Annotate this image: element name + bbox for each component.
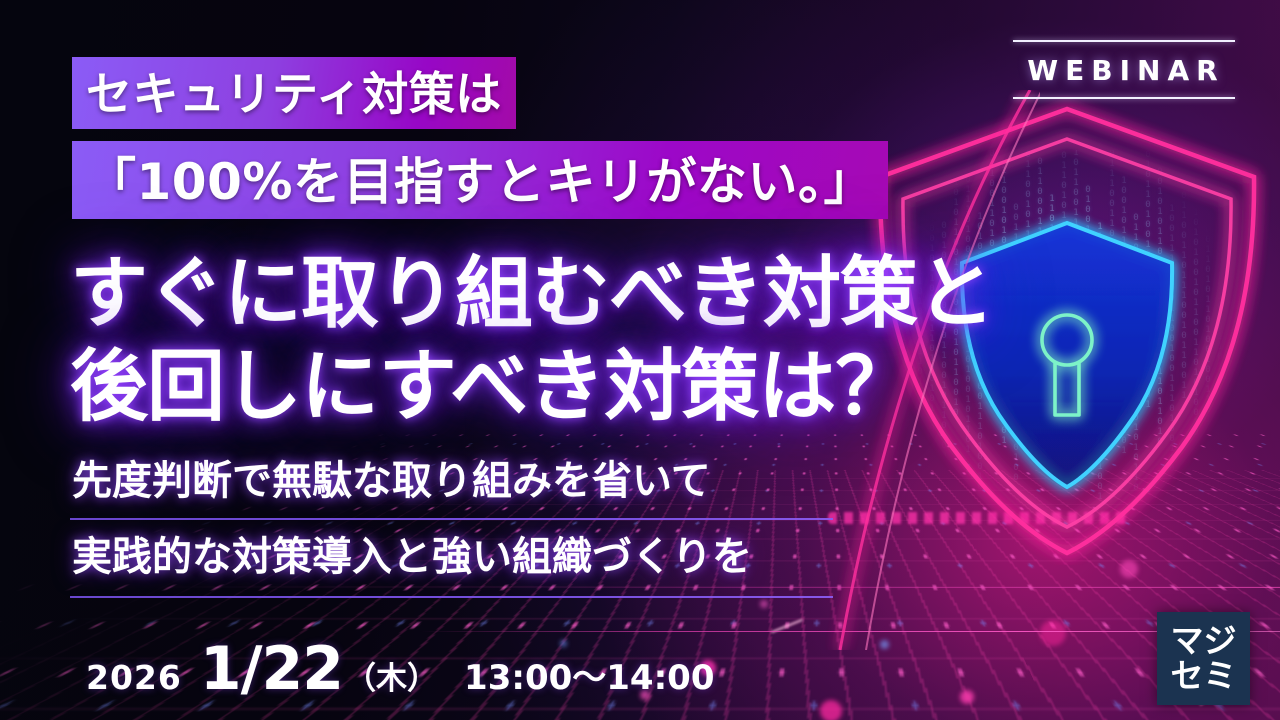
logo-line1: マジ xyxy=(1171,624,1237,659)
subtitle-line1: 先度判断で無駄な取り組みを省いて xyxy=(72,461,711,501)
kicker-line2-text: 「100%を目指すとキリがない。」 xyxy=(86,142,874,214)
schedule-day-of-week: （木） xyxy=(345,653,438,698)
schedule-year: 2026 xyxy=(86,658,182,697)
headline-line1: すぐに取り組むべき対策と xyxy=(70,255,994,333)
schedule-time-range: 13:00〜14:00 xyxy=(464,650,714,699)
kicker-banner-line1: セキュリティ対策は xyxy=(72,57,516,129)
webinar-banner: 1011010010110110110100101101010010110100… xyxy=(0,0,1280,720)
logo-line2: セミ xyxy=(1171,659,1237,694)
subtitle-divider-top xyxy=(70,518,833,520)
kicker-banner-line2: 「100%を目指すとキリがない。」 xyxy=(72,141,888,219)
webinar-badge: WEBINAR xyxy=(1013,40,1235,99)
webinar-label: WEBINAR xyxy=(1013,42,1235,97)
subtitle-divider-bottom xyxy=(70,596,833,598)
majisemi-logo[interactable]: マジ セミ xyxy=(1157,612,1250,705)
subtitle-line2: 実践的な対策導入と強い組織づくりを xyxy=(72,537,752,577)
schedule-month-day: 1/22 xyxy=(200,634,343,704)
webinar-rule-bottom xyxy=(1013,97,1235,99)
kicker-line1-text: セキュリティ対策は xyxy=(86,58,502,124)
schedule-row: 2026 1/22 （木） 13:00〜14:00 xyxy=(86,634,714,704)
headline-line2: 後回しにすべき対策は？ xyxy=(70,348,912,426)
